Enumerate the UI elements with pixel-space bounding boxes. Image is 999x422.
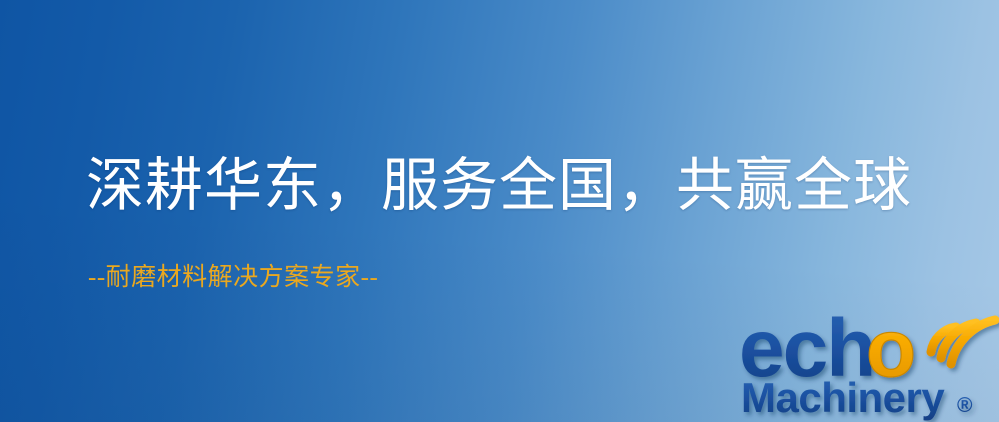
logo-subword: Machinery ® (741, 374, 973, 421)
echo-machinery-logo[interactable]: echo Machinery (735, 296, 999, 422)
promo-banner: 深耕华东，服务全国，共赢全球 --耐磨材料解决方案专家-- echo Machi… (0, 0, 999, 422)
logo-graphic: ech o Machinery ® (735, 296, 999, 422)
svg-text:Machinery: Machinery (741, 374, 945, 421)
svg-text:®: ® (957, 394, 973, 417)
echo-wave-arcs (931, 320, 995, 364)
banner-subtitle: --耐磨材料解决方案专家-- (88, 264, 378, 292)
page-title: 深耕华东，服务全国，共赢全球 (86, 156, 912, 217)
